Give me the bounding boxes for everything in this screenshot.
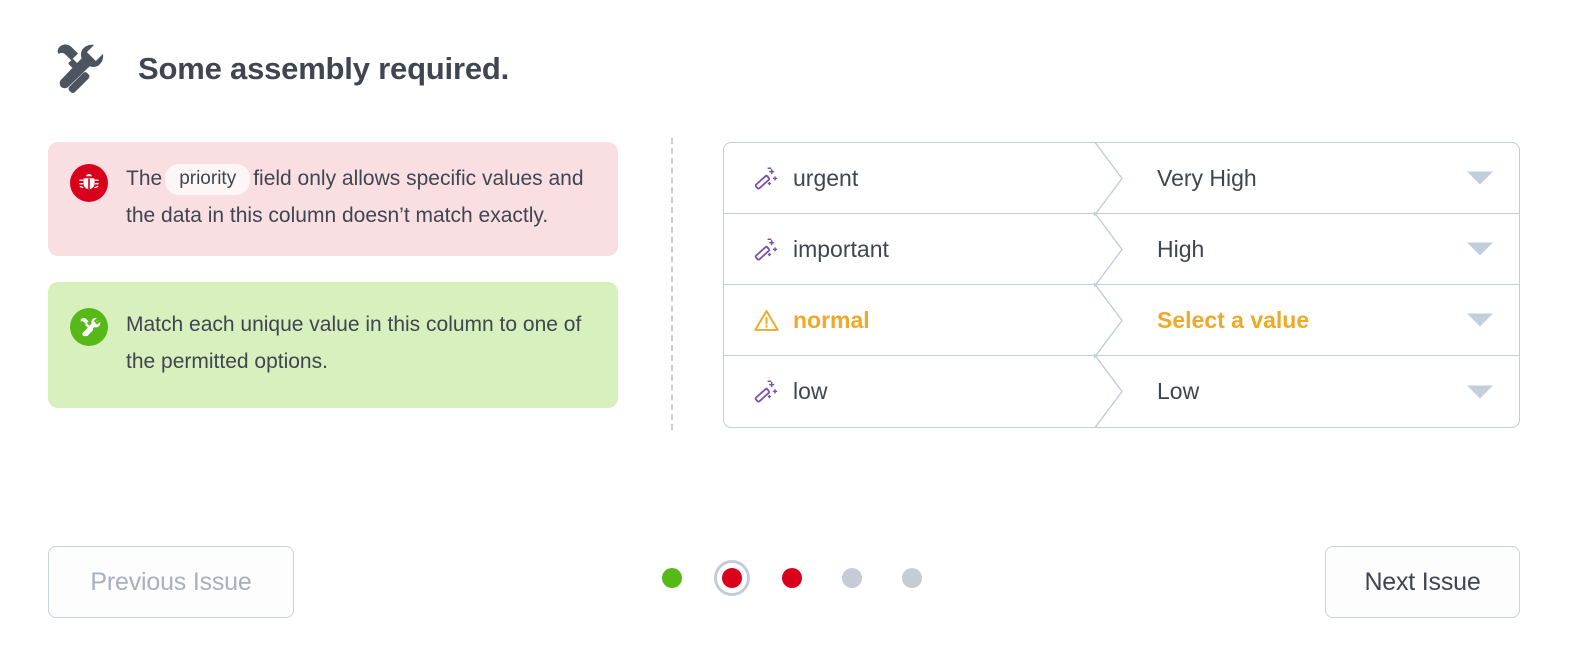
hammer-wrench-icon xyxy=(48,38,110,100)
progress-dot-3[interactable] xyxy=(774,560,810,596)
source-value-label: low xyxy=(793,378,828,405)
table-row[interactable]: low Low xyxy=(724,356,1519,427)
target-value-cell[interactable]: High xyxy=(1106,214,1519,284)
magic-wand-icon xyxy=(753,378,780,405)
target-value-cell[interactable]: Low xyxy=(1106,356,1519,427)
dot-indicator xyxy=(842,568,862,588)
target-value-label: Low xyxy=(1157,378,1199,405)
error-alert-text: Thepriorityfield only allows specific va… xyxy=(126,160,594,234)
vertical-dashed-divider xyxy=(671,138,673,430)
chevron-down-icon[interactable] xyxy=(1467,385,1493,398)
chevron-down-icon[interactable] xyxy=(1467,243,1493,256)
hint-alert-text: Match each unique value in this column t… xyxy=(126,306,594,380)
dot-indicator xyxy=(902,568,922,588)
chevron-down-icon[interactable] xyxy=(1467,172,1493,185)
message-panel: Thepriorityfield only allows specific va… xyxy=(48,142,618,408)
error-alert: Thepriorityfield only allows specific va… xyxy=(48,142,618,256)
page-header: Some assembly required. xyxy=(48,38,509,100)
target-value-label: High xyxy=(1157,236,1204,263)
hint-alert: Match each unique value in this column t… xyxy=(48,282,618,408)
next-issue-button[interactable]: Next Issue xyxy=(1325,546,1520,618)
source-value-cell: normal xyxy=(724,285,1106,355)
source-value-label: urgent xyxy=(793,165,858,192)
source-value-label: important xyxy=(793,236,889,263)
dot-indicator xyxy=(782,568,802,588)
warning-triangle-icon xyxy=(753,307,780,334)
progress-dot-1[interactable] xyxy=(654,560,690,596)
progress-dot-2[interactable] xyxy=(714,560,750,596)
magic-wand-icon xyxy=(753,165,780,192)
target-value-cell[interactable]: Select a value xyxy=(1106,285,1519,355)
page-title: Some assembly required. xyxy=(138,51,509,87)
source-value-cell: low xyxy=(724,356,1106,427)
progress-dot-4[interactable] xyxy=(834,560,870,596)
source-value-label: normal xyxy=(793,307,870,334)
error-text-before: The xyxy=(126,167,162,190)
table-row[interactable]: important High xyxy=(724,214,1519,285)
target-value-label: Select a value xyxy=(1157,307,1309,334)
source-value-cell: urgent xyxy=(724,143,1106,213)
target-value-cell[interactable]: Very High xyxy=(1106,143,1519,213)
field-name-pill: priority xyxy=(165,164,250,195)
chevron-down-icon[interactable] xyxy=(1467,314,1493,327)
source-value-cell: important xyxy=(724,214,1106,284)
magic-wand-icon xyxy=(753,236,780,263)
value-mapping-table: urgent Very High important xyxy=(723,142,1520,428)
table-row[interactable]: urgent Very High xyxy=(724,143,1519,214)
hammer-wrench-icon xyxy=(70,308,108,346)
table-row[interactable]: normal Select a value xyxy=(724,285,1519,356)
bug-icon xyxy=(70,164,108,202)
progress-dot-5[interactable] xyxy=(894,560,930,596)
target-value-label: Very High xyxy=(1157,165,1257,192)
dot-indicator xyxy=(722,568,742,588)
dot-indicator xyxy=(662,568,682,588)
